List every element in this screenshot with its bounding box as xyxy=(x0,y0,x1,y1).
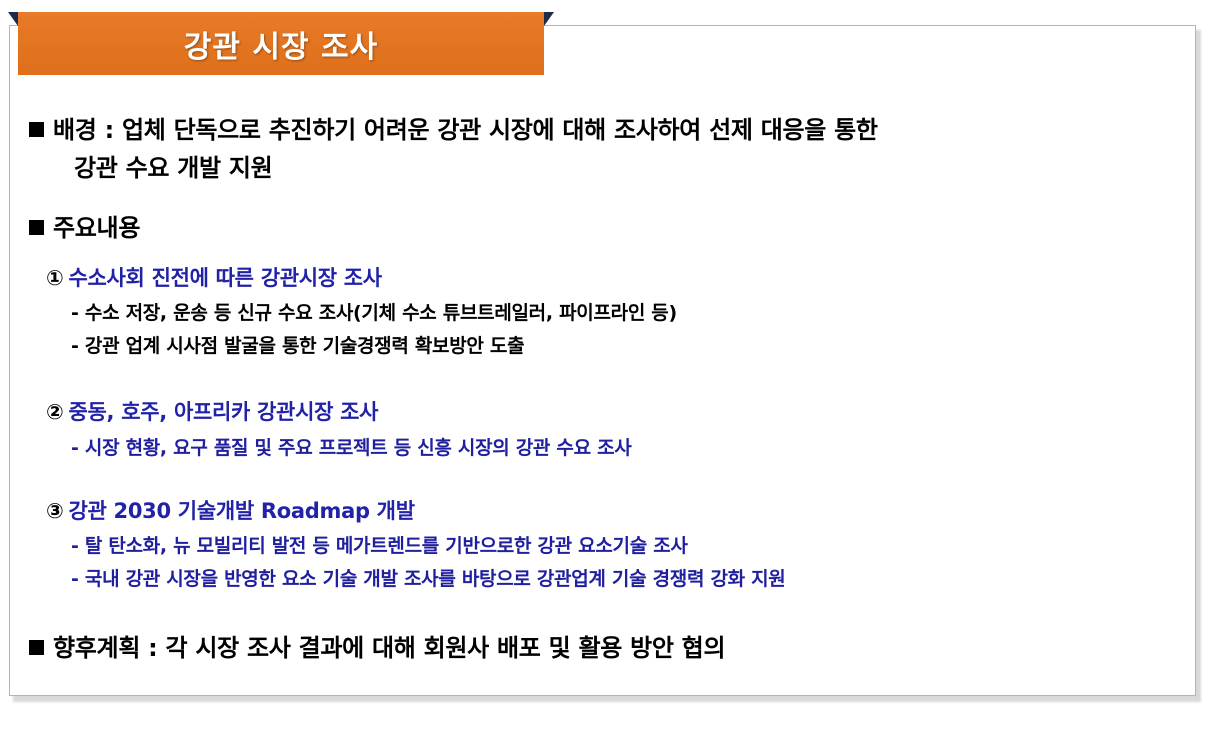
ribbon-tail-right-icon xyxy=(544,12,554,26)
list-item-1-subitem-1: - 수소 저장, 운송 등 신규 수요 조사(기체 수소 튜브트레일러, 파이프… xyxy=(71,298,677,325)
slide-canvas: 강관 시장 조사 배경 : 업체 단독으로 추진하기 어려운 강관 시장에 대해… xyxy=(0,0,1220,737)
section-background-continuation: 강관 수요 개발 지원 xyxy=(74,148,272,183)
title-ribbon-body: 강관 시장 조사 xyxy=(18,12,544,75)
list-item-2-subitem-1: - 시장 현황, 요구 품질 및 주요 프로젝트 등 신흥 시장의 강관 수요 … xyxy=(71,433,631,460)
square-bullet-icon xyxy=(29,640,44,655)
list-item-3-subitem-1: - 탈 탄소화, 뉴 모빌리티 발전 등 메가트렌드를 기반으로한 강관 요소기… xyxy=(71,531,688,558)
page-title: 강관 시장 조사 xyxy=(184,22,379,66)
section-main-contents: 주요내용 xyxy=(29,208,140,243)
list-item-heading-3: ③강관 2030 기술개발 Roadmap 개발 xyxy=(46,495,415,525)
section-background-label: 배경 : 업체 단독으로 추진하기 어려운 강관 시장에 대해 조사하여 선제 … xyxy=(53,116,878,144)
list-item-heading-2-label: 중동, 호주, 아프리카 강관시장 조사 xyxy=(68,400,378,424)
section-background: 배경 : 업체 단독으로 추진하기 어려운 강관 시장에 대해 조사하여 선제 … xyxy=(29,110,878,145)
title-ribbon: 강관 시장 조사 xyxy=(18,12,544,75)
list-item-heading-2: ②중동, 호주, 아프리카 강관시장 조사 xyxy=(46,396,378,426)
section-future-plan: 향후계획 : 각 시장 조사 결과에 대해 회원사 배포 및 활용 방안 협의 xyxy=(29,628,725,663)
list-item-heading-1: ①수소사회 진전에 따른 강관시장 조사 xyxy=(46,262,382,292)
circled-number-2-icon: ② xyxy=(46,400,63,424)
circled-number-3-icon: ③ xyxy=(46,499,63,523)
section-future-plan-label: 향후계획 : 각 시장 조사 결과에 대해 회원사 배포 및 활용 방안 협의 xyxy=(53,634,725,662)
square-bullet-icon xyxy=(29,122,44,137)
section-main-contents-label: 주요내용 xyxy=(53,214,140,242)
list-item-3-subitem-2: - 국내 강관 시장을 반영한 요소 기술 개발 조사를 바탕으로 강관업계 기… xyxy=(71,564,785,591)
circled-number-1-icon: ① xyxy=(46,266,63,290)
ribbon-tail-left-icon xyxy=(8,12,18,26)
list-item-heading-1-label: 수소사회 진전에 따른 강관시장 조사 xyxy=(68,266,381,290)
list-item-heading-3-label: 강관 2030 기술개발 Roadmap 개발 xyxy=(68,499,414,523)
slide-content: 배경 : 업체 단독으로 추진하기 어려운 강관 시장에 대해 조사하여 선제 … xyxy=(9,76,1196,696)
list-item-1-subitem-2: - 강관 업계 시사점 발굴을 통한 기술경쟁력 확보방안 도출 xyxy=(71,331,524,358)
square-bullet-icon xyxy=(29,220,44,235)
